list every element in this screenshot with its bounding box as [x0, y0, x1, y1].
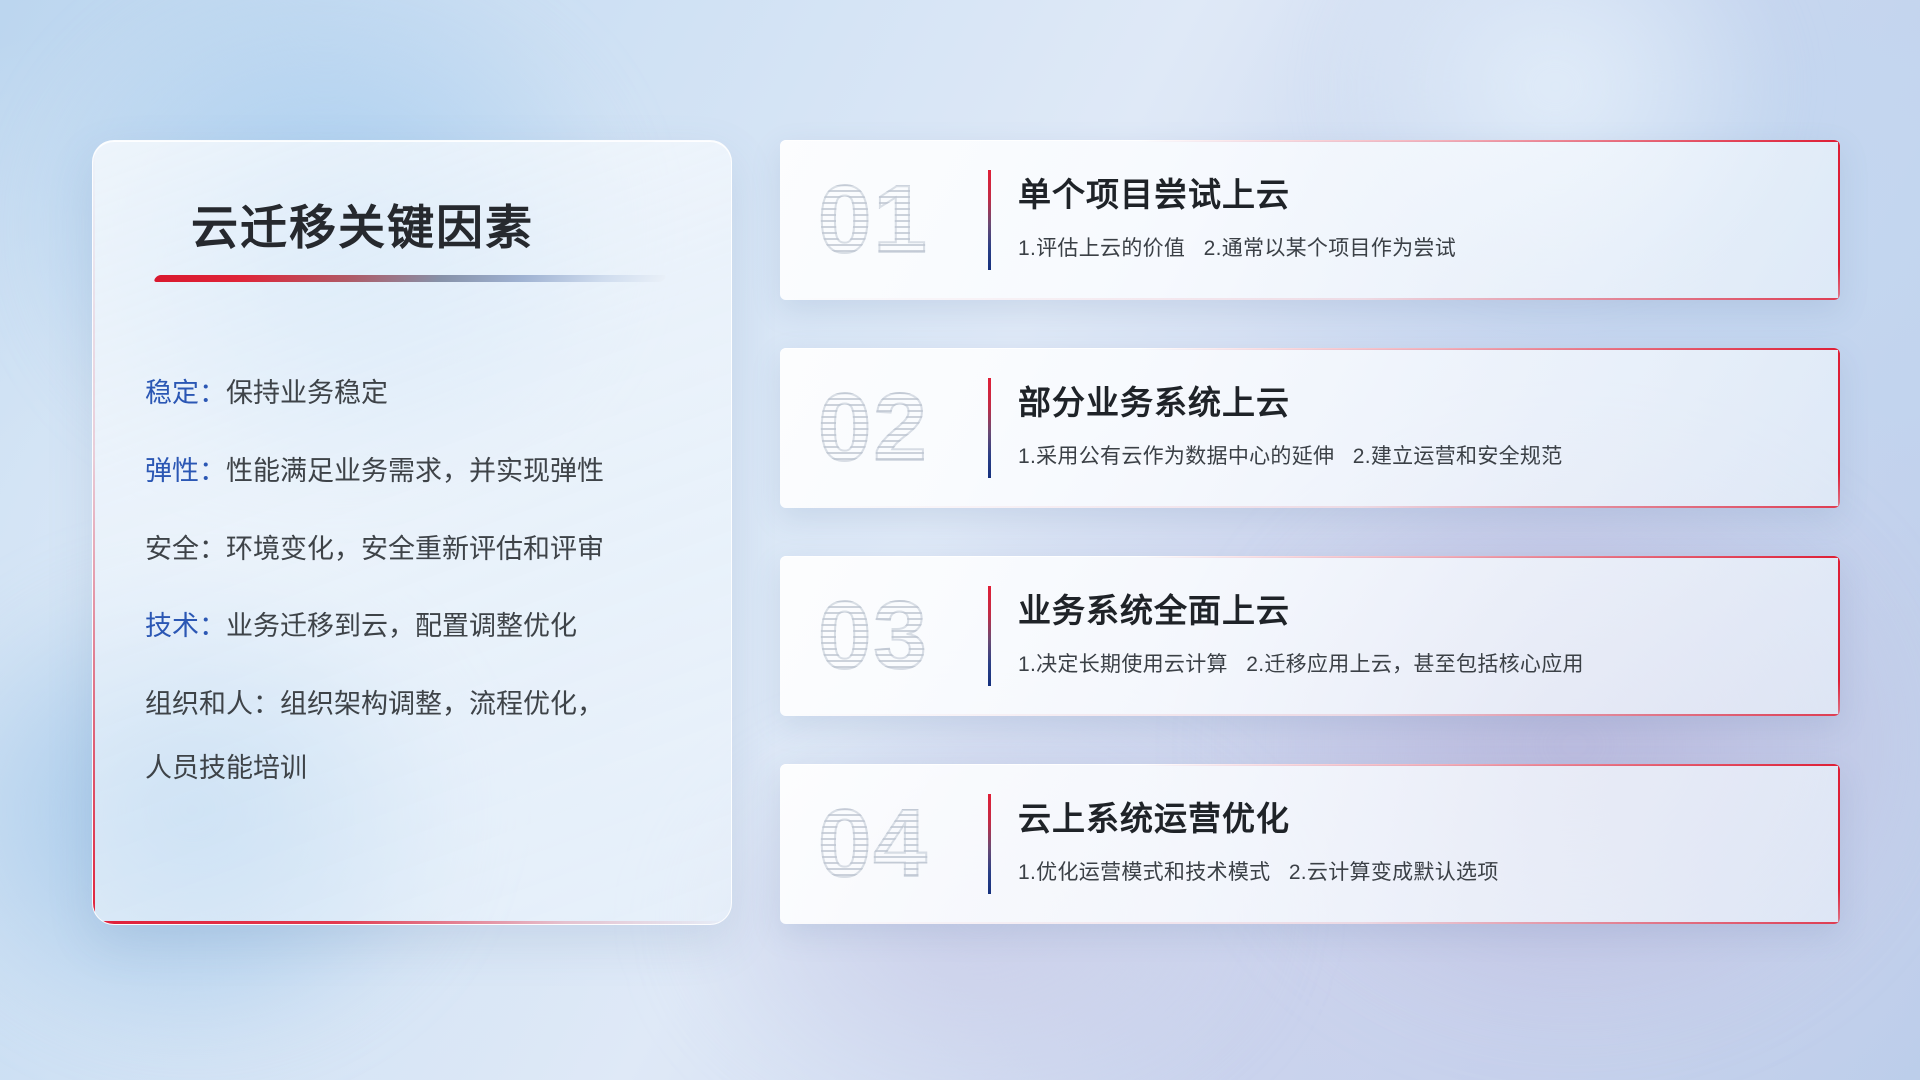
card-divider-bar — [988, 170, 991, 270]
card-title: 业务系统全面上云 — [1018, 584, 1290, 632]
card-top-accent — [780, 556, 1840, 558]
list-item: 安全：环境变化，安全重新评估和评审 — [145, 533, 685, 567]
card-number: 01 — [818, 172, 929, 268]
list-item-value: 环境变化，安全重新评估和评审 — [226, 534, 604, 564]
stage-card-03[interactable]: 03 业务系统全面上云 1.决定长期使用云计算 2.迁移应用上云，甚至包括核心应… — [780, 556, 1840, 716]
card-number: 02 — [818, 380, 929, 476]
title-underline-accent — [153, 275, 667, 282]
card-divider-bar — [988, 586, 991, 686]
key-factors-panel: 云迁移关键因素 稳定：保持业务稳定 弹性：性能满足业务需求，并实现弹性 安全：环… — [92, 140, 732, 925]
list-item: 弹性：性能满足业务需求，并实现弹性 — [145, 455, 685, 489]
card-description: 1.采用公有云作为数据中心的延伸 2.建立运营和安全规范 — [1018, 440, 1563, 470]
stage-card-01[interactable]: 01 单个项目尝试上云 1.评估上云的价值 2.通常以某个项目作为尝试 — [780, 140, 1840, 300]
stage-card-04[interactable]: 04 云上系统运营优化 1.优化运营模式和技术模式 2.云计算变成默认选项 — [780, 764, 1840, 924]
card-bottom-accent — [780, 922, 1840, 924]
card-top-accent — [780, 764, 1840, 766]
card-description: 1.优化运营模式和技术模式 2.云计算变成默认选项 — [1018, 856, 1499, 886]
list-item-value: 保持业务稳定 — [226, 378, 388, 408]
list-item: 组织和人：组织架构调整，流程优化， — [145, 688, 685, 722]
card-description: 1.决定长期使用云计算 2.迁移应用上云，甚至包括核心应用 — [1018, 648, 1584, 678]
card-description: 1.评估上云的价值 2.通常以某个项目作为尝试 — [1018, 232, 1456, 262]
card-title: 部分业务系统上云 — [1018, 376, 1290, 424]
card-right-accent — [1838, 556, 1840, 716]
card-bottom-accent — [780, 714, 1840, 716]
card-number: 04 — [818, 796, 929, 892]
list-item-value: 性能满足业务需求，并实现弹性 — [226, 456, 604, 486]
list-item-key: 安全： — [145, 534, 226, 564]
list-item-value: 组织架构调整，流程优化， — [280, 689, 604, 719]
page-title: 云迁移关键因素 — [191, 189, 534, 258]
card-divider-bar — [988, 378, 991, 478]
list-item-key: 弹性： — [145, 456, 226, 486]
card-right-accent — [1838, 764, 1840, 924]
list-item-value: 人员技能培训 — [145, 753, 307, 783]
card-title: 单个项目尝试上云 — [1018, 168, 1290, 216]
card-right-accent — [1838, 140, 1840, 300]
list-item: 稳定：保持业务稳定 — [145, 377, 685, 411]
list-item-key: 技术： — [145, 611, 226, 641]
list-item-key: 组织和人： — [145, 689, 280, 719]
slide-content: 云迁移关键因素 稳定：保持业务稳定 弹性：性能满足业务需求，并实现弹性 安全：环… — [0, 0, 1920, 1080]
card-divider-bar — [988, 794, 991, 894]
card-top-accent — [780, 348, 1840, 350]
stage-card-02[interactable]: 02 部分业务系统上云 1.采用公有云作为数据中心的延伸 2.建立运营和安全规范 — [780, 348, 1840, 508]
key-factors-list: 稳定：保持业务稳定 弹性：性能满足业务需求，并实现弹性 安全：环境变化，安全重新… — [145, 377, 685, 786]
card-right-accent — [1838, 348, 1840, 508]
list-item-value: 业务迁移到云，配置调整优化 — [226, 611, 577, 641]
card-number: 03 — [818, 588, 929, 684]
list-item: 技术：业务迁移到云，配置调整优化 — [145, 610, 685, 644]
card-top-accent — [780, 140, 1840, 142]
card-title: 云上系统运营优化 — [1018, 792, 1290, 840]
card-bottom-accent — [780, 298, 1840, 300]
list-item: 人员技能培训 — [145, 752, 685, 786]
list-item-key: 稳定： — [145, 378, 226, 408]
card-bottom-accent — [780, 506, 1840, 508]
